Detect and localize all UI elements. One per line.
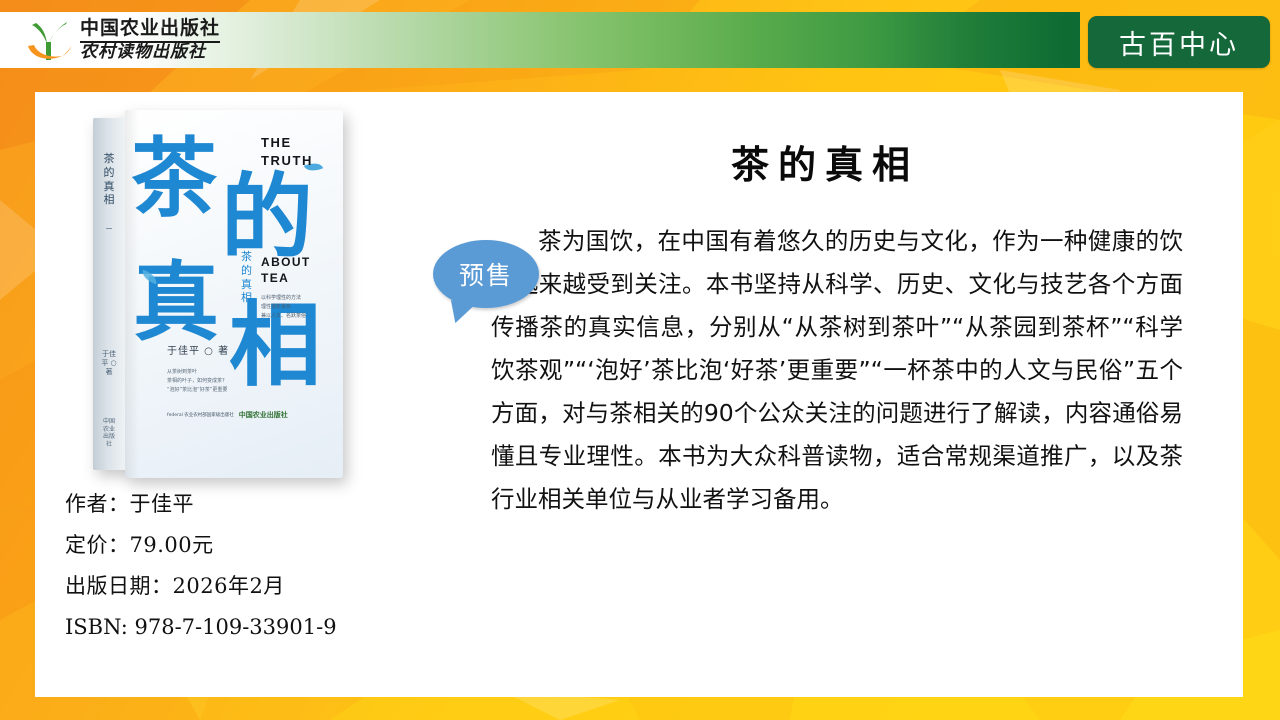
center-badge[interactable]: 古百中心 xyxy=(1088,16,1270,68)
spine-divider xyxy=(106,228,112,229)
cover-chinese-small: 茶的真相 xyxy=(241,250,255,305)
tea-leaf-icon xyxy=(140,270,159,285)
presale-bubble-label: 预售 xyxy=(459,256,513,292)
cover-char-4: 相 xyxy=(229,300,321,392)
cover-footer: federal 农业农村部国家级出版社 中国农业出版社 xyxy=(167,410,327,420)
spine-title: 茶的真相 xyxy=(99,152,119,207)
meta-isbn: ISBN: 978-7-109-33901-9 xyxy=(65,607,465,648)
cover-footer-publisher: 中国农业出版社 xyxy=(239,410,288,420)
sprout-leaf-logo-icon xyxy=(22,16,74,64)
presale-bubble: 预售 xyxy=(433,240,539,308)
cover-blurb-top: 以科学理性的方法 理性透析事实 兼以人文、名跃茶俗 xyxy=(261,294,335,320)
page-title: 茶的真相 xyxy=(475,134,1175,189)
content-card: 茶的真相 于佳平 ○ 著 中国农业出版社 茶 的 真 相 THE TRUTH 茶… xyxy=(35,92,1243,697)
cover-char-2: 的 xyxy=(221,172,313,264)
publisher-logo: 中国农业出版社 农村读物出版社 xyxy=(22,14,220,66)
cover-english-bottom: ABOUT TEA xyxy=(261,254,311,286)
cover-char-3: 真 xyxy=(133,260,219,346)
book-front: 茶 的 真 相 THE TRUTH 茶的真相 ABOUT TEA 以科学理性的方… xyxy=(125,110,343,478)
cover-footer-left: federal 农业农村部国家级出版社 xyxy=(167,412,234,418)
spine-author: 于佳平 ○ 著 xyxy=(101,350,117,377)
spine-publisher: 中国农业出版社 xyxy=(102,418,116,448)
left-column: 茶的真相 于佳平 ○ 著 中国农业出版社 茶 的 真 相 THE TRUTH 茶… xyxy=(35,92,475,697)
tea-leaf-icon xyxy=(304,159,324,175)
book-metadata: 作者：于佳平 定价：79.00元 出版日期：2026年2月 ISBN: 978-… xyxy=(65,484,465,648)
meta-price: 定价：79.00元 xyxy=(65,525,465,566)
meta-pubdate: 出版日期：2026年2月 xyxy=(65,566,465,607)
right-column: 茶的真相 茶为国饮，在中国有着悠久的历史与文化，作为一种健康的饮品越来越受到关注… xyxy=(475,92,1243,697)
book-spine: 茶的真相 于佳平 ○ 著 中国农业出版社 xyxy=(93,118,125,470)
center-badge-label: 古百中心 xyxy=(1119,23,1239,62)
publisher-name-primary: 中国农业出版社 xyxy=(80,19,220,39)
book-description: 茶为国饮，在中国有着悠久的历史与文化，作为一种健康的饮品越来越受到关注。本书坚持… xyxy=(491,220,1183,521)
cover-blurb-bottom: 从茶树到茶叶 茶相的叶子，如何变成茶? “泡好”茶比泡“好茶”更重要 xyxy=(167,368,272,395)
publisher-name-secondary: 农村读物出版社 xyxy=(80,44,220,62)
cover-char-1: 茶 xyxy=(131,136,217,222)
meta-author: 作者：于佳平 xyxy=(65,484,465,525)
cover-byline: 于佳平 ○ 著 xyxy=(167,342,229,357)
cover-english-top: THE TRUTH xyxy=(261,134,313,169)
book-cover-image: 茶的真相 于佳平 ○ 著 中国农业出版社 茶 的 真 相 THE TRUTH 茶… xyxy=(93,110,373,480)
